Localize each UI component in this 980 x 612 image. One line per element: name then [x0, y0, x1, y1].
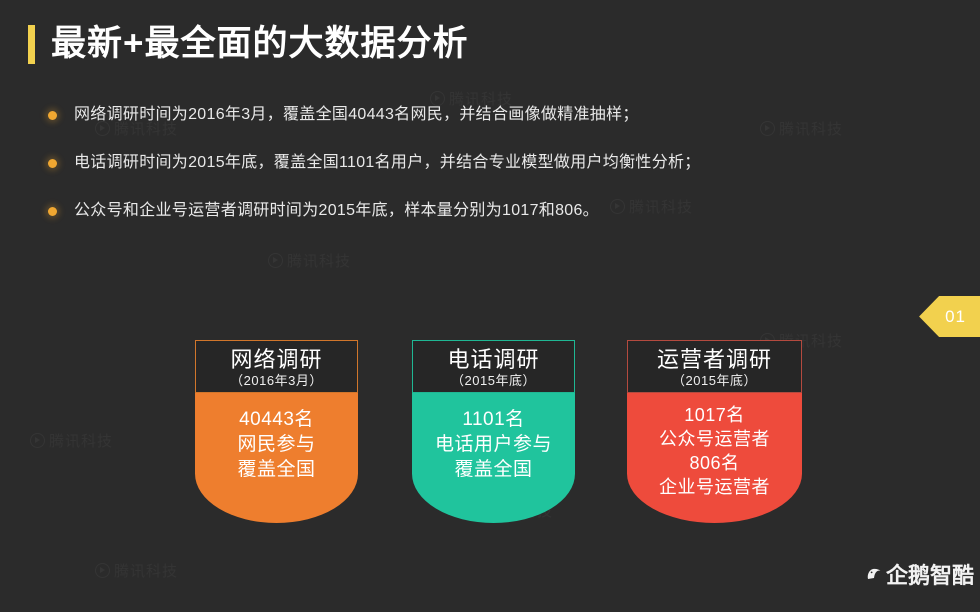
survey-card-stat: 企业号运营者	[659, 475, 770, 499]
survey-card-subtitle: （2015年底）	[451, 372, 536, 389]
survey-card-stat: 1017名	[684, 403, 745, 427]
survey-card-stat: 电话用户参与	[435, 432, 552, 457]
survey-card-stat: 40443名	[239, 407, 314, 432]
bullet-dot-icon	[48, 159, 57, 168]
survey-card-stat: 公众号运营者	[659, 427, 770, 451]
survey-card-header: 运营者调研 （2015年底）	[627, 340, 802, 393]
title-text: 最新+最全面的大数据分析	[51, 24, 468, 64]
survey-card-subtitle: （2016年3月）	[230, 372, 323, 389]
title-accent-bar	[28, 25, 35, 64]
survey-card-header: 网络调研 （2016年3月）	[195, 340, 358, 393]
survey-card-body: 1017名 公众号运营者 806名 企业号运营者	[627, 393, 802, 523]
page-title: 最新+最全面的大数据分析	[28, 24, 468, 64]
survey-card-header: 电话调研 （2015年底）	[412, 340, 575, 393]
slide: 腾讯科技腾讯科技腾讯科技腾讯科技腾讯科技腾讯科技腾讯科技腾讯科技腾讯科技腾讯科技…	[0, 0, 980, 612]
survey-card-title: 运营者调研	[657, 347, 772, 372]
survey-card-body: 40443名 网民参与 覆盖全国	[195, 393, 358, 523]
watermark-logo-icon	[268, 253, 283, 268]
list-item: 网络调研时间为2016年3月，覆盖全国40443名网民，并结合画像做精准抽样；	[48, 104, 908, 126]
survey-card-group: 网络调研 （2016年3月） 40443名 网民参与 覆盖全国 电话调研 （20…	[0, 340, 980, 540]
survey-card-title: 电话调研	[447, 347, 539, 372]
survey-card-stat: 806名	[689, 451, 739, 475]
watermark: 腾讯科技	[95, 560, 178, 581]
watermark-text: 腾讯科技	[114, 562, 178, 580]
bullet-dot-icon	[48, 207, 57, 216]
watermark: 腾讯科技	[268, 250, 351, 271]
bullet-text: 电话调研时间为2015年底，覆盖全国1101名用户，并结合专业模型做用户均衡性分…	[74, 152, 701, 174]
survey-card-stat: 覆盖全国	[454, 457, 532, 482]
list-item: 电话调研时间为2015年底，覆盖全国1101名用户，并结合专业模型做用户均衡性分…	[48, 152, 908, 174]
survey-card-phone: 电话调研 （2015年底） 1101名 电话用户参与 覆盖全国	[412, 340, 575, 523]
survey-card-subtitle: （2015年底）	[672, 372, 757, 389]
survey-card-stat: 覆盖全国	[237, 457, 315, 482]
bullet-list: 网络调研时间为2016年3月，覆盖全国40443名网民，并结合画像做精准抽样； …	[48, 104, 908, 248]
survey-card-operator: 运营者调研 （2015年底） 1017名 公众号运营者 806名 企业号运营者	[627, 340, 802, 523]
survey-card-stat: 1101名	[462, 407, 524, 432]
survey-card-title: 网络调研	[230, 347, 322, 372]
bullet-dot-icon	[48, 111, 57, 120]
brand-logo: 企鹅智酷	[862, 564, 974, 588]
survey-card-web: 网络调研 （2016年3月） 40443名 网民参与 覆盖全国	[195, 340, 358, 523]
brand-logo-text: 企鹅智酷	[886, 564, 974, 588]
watermark-text: 腾讯科技	[287, 252, 351, 270]
list-item: 公众号和企业号运营者调研时间为2015年底，样本量分别为1017和806。	[48, 200, 908, 222]
page-number-tag: 01	[919, 296, 980, 337]
survey-card-stat: 网民参与	[237, 432, 315, 457]
bullet-text: 公众号和企业号运营者调研时间为2015年底，样本量分别为1017和806。	[74, 200, 599, 222]
watermark-logo-icon	[95, 563, 110, 578]
bullet-text: 网络调研时间为2016年3月，覆盖全国40443名网民，并结合画像做精准抽样；	[74, 104, 639, 126]
survey-card-body: 1101名 电话用户参与 覆盖全国	[412, 393, 575, 523]
penguin-icon	[862, 565, 884, 587]
